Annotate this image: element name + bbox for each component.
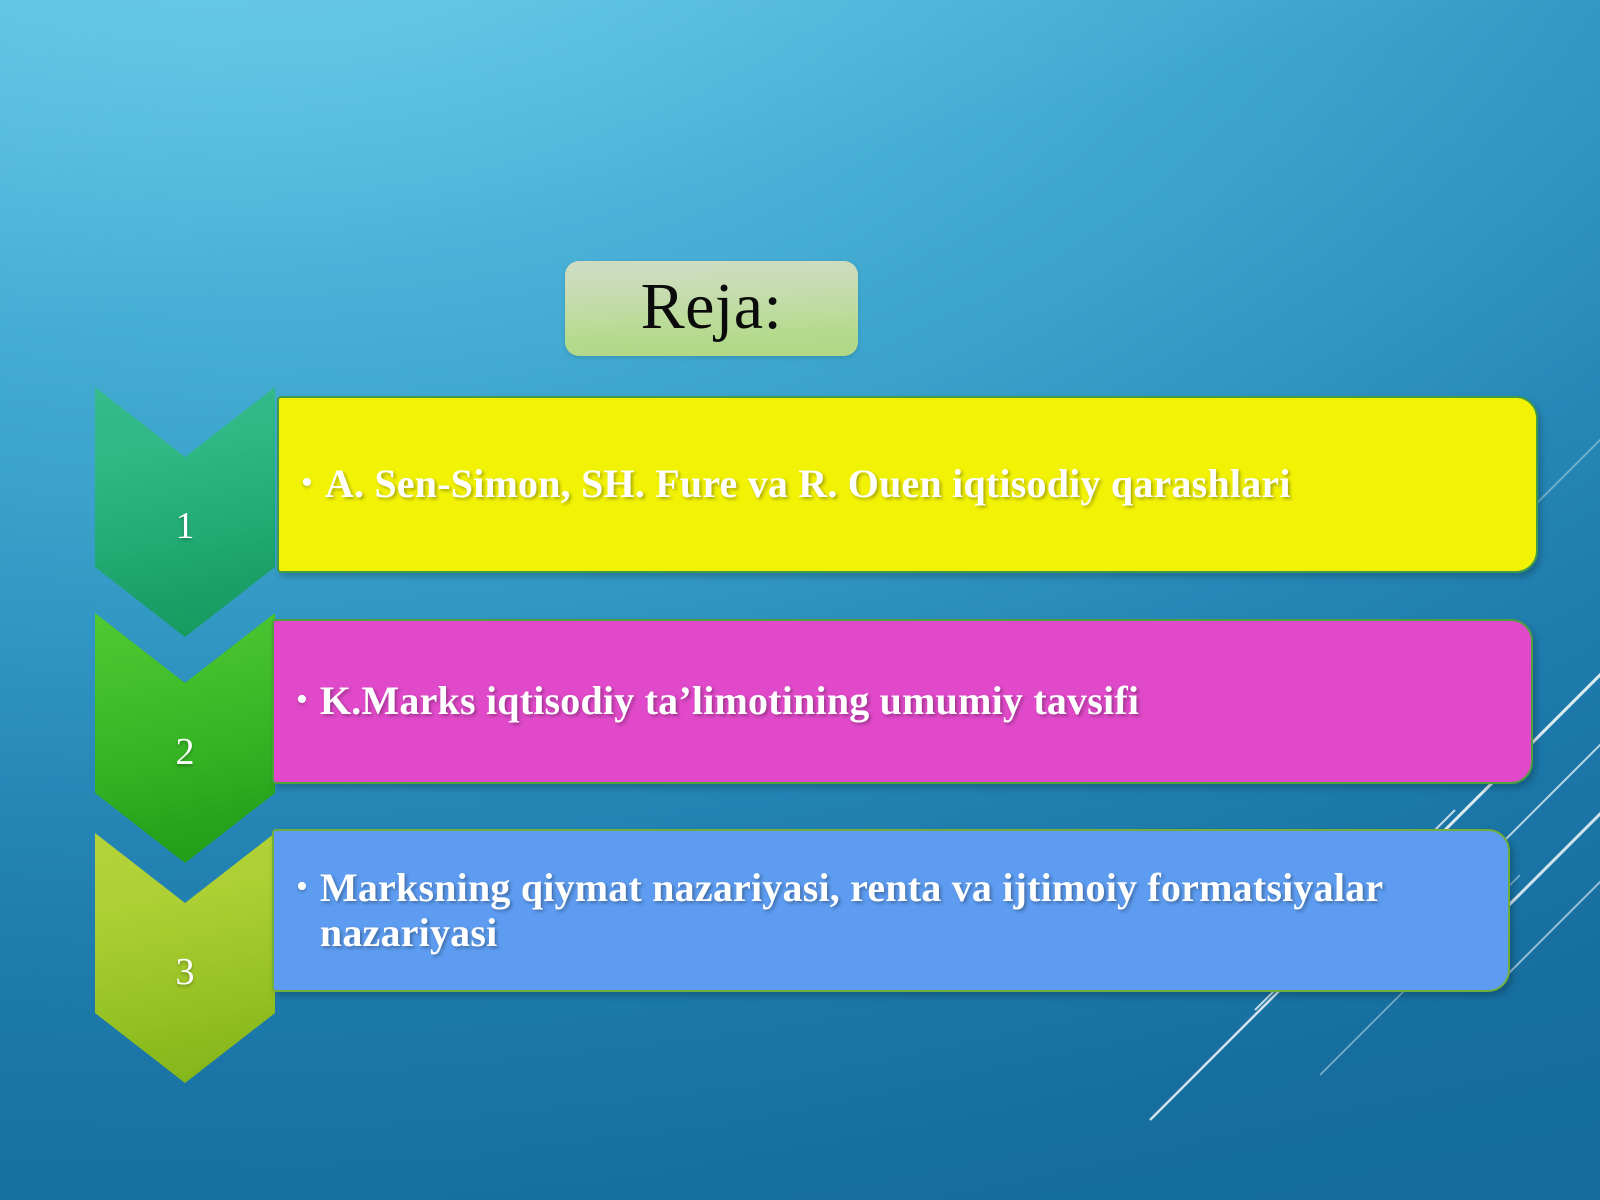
bullet-icon-1: •	[301, 466, 313, 500]
agenda-item-text-1: A. Sen-Simon, SH. Fure va R. Ouen iqtiso…	[325, 462, 1291, 507]
presentation-slide: Reja: 1 2 3 • A. Sen-Simon, SH. Fure va …	[0, 0, 1600, 1200]
agenda-item-bar-1: • A. Sen-Simon, SH. Fure va R. Ouen iqti…	[277, 396, 1538, 573]
slide-title-box: Reja:	[565, 261, 858, 356]
chevron-number-3: 3	[176, 953, 195, 991]
bullet-icon-3: •	[296, 870, 308, 904]
agenda-item-text-3: Marksning qiymat nazariyasi, renta va ij…	[320, 866, 1482, 956]
chevron-number-1: 1	[176, 507, 195, 545]
chevron-number-2: 2	[176, 733, 195, 771]
agenda-item-text-2: K.Marks iqtisodiy ta’limotining umumiy t…	[320, 679, 1139, 724]
agenda-item-bar-3: • Marksning qiymat nazariyasi, renta va …	[272, 829, 1510, 992]
agenda-item-bar-2: • K.Marks iqtisodiy ta’limotining umumiy…	[272, 619, 1533, 784]
bullet-icon-2: •	[296, 683, 308, 717]
page-title: Reja:	[641, 274, 783, 340]
